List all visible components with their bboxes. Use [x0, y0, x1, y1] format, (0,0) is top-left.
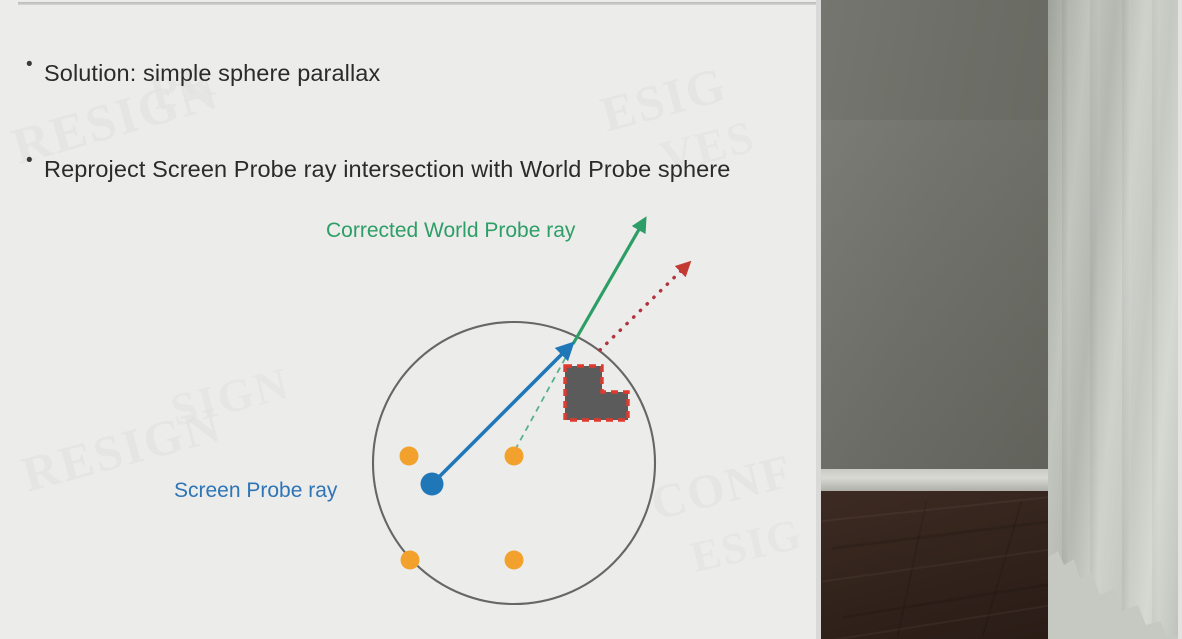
wall-baseboard	[821, 469, 1059, 491]
presentation-slide: RESIGN PR ESIG VES RESIGN SIGN CONF ESIG…	[0, 0, 816, 639]
screen-capture: RESIGN PR ESIG VES RESIGN SIGN CONF ESIG…	[0, 0, 1182, 639]
curtain-hem	[1048, 439, 1182, 639]
world-probe-dot	[505, 551, 524, 570]
corrected-world-probe-ray-label: Corrected World Probe ray	[326, 219, 575, 243]
screen-probe-origin-dot	[421, 473, 444, 496]
camera-video-feed	[816, 0, 1182, 639]
sphere-parallax-diagram	[0, 0, 816, 639]
video-right-border	[1178, 0, 1182, 639]
occluder-geometry	[565, 366, 628, 420]
corrected-world-probe-ray	[573, 219, 645, 344]
world-probe-dot	[505, 447, 524, 466]
screen-probe-ray-label: Screen Probe ray	[174, 479, 337, 503]
world-probe-dot	[400, 447, 419, 466]
screen-probe-ray	[432, 344, 572, 484]
world-probe-reprojection-line	[515, 344, 573, 450]
wall-shading	[821, 120, 1064, 488]
world-probe-dot	[401, 551, 420, 570]
